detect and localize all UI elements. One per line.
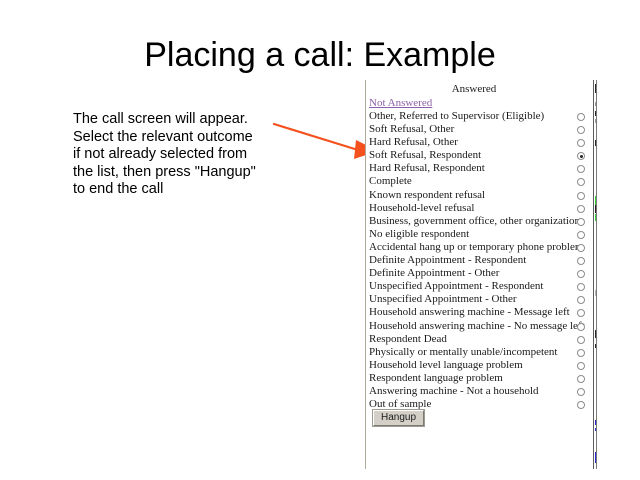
outcome-radio[interactable] xyxy=(577,349,585,357)
outcome-row[interactable]: Hard Refusal, Other xyxy=(366,136,596,149)
outcome-label: Other, Referred to Supervisor (Eligible) xyxy=(369,110,544,123)
instruction-line: The call screen will appear. xyxy=(73,111,288,129)
outcome-label: Definite Appointment - Respondent xyxy=(369,254,526,267)
outcome-radio[interactable] xyxy=(577,270,585,278)
outcome-radio[interactable] xyxy=(577,257,585,265)
outcome-radio[interactable] xyxy=(577,388,585,396)
outcome-label: Household answering machine - Message le… xyxy=(369,306,570,319)
outcome-row[interactable]: Household answering machine - Message le… xyxy=(366,306,596,319)
outcome-label: Unspecified Appointment - Other xyxy=(369,293,517,306)
outcome-label: Soft Refusal, Other xyxy=(369,123,454,136)
instruction-line: the list, then press "Hangup" xyxy=(73,164,288,182)
background-window-edge[interactable] xyxy=(593,80,597,469)
outcome-radio[interactable] xyxy=(577,309,585,317)
outcome-label: Complete xyxy=(369,175,412,188)
outcome-row[interactable]: Respondent Dead xyxy=(366,333,596,346)
outcome-row[interactable]: No eligible respondent xyxy=(366,228,596,241)
outcome-radio[interactable] xyxy=(577,152,585,160)
outcome-radio[interactable] xyxy=(577,113,585,121)
window-edge-mark xyxy=(595,344,597,348)
outcome-label: Household level language problem xyxy=(369,359,523,372)
outcome-label: Known respondent refusal xyxy=(369,189,485,202)
outcome-radio[interactable] xyxy=(577,178,585,186)
outcome-radio[interactable] xyxy=(577,375,585,383)
outcome-radio[interactable] xyxy=(577,323,585,331)
window-edge-mark xyxy=(595,111,597,116)
outcome-label: Accidental hang up or temporary phone pr… xyxy=(369,241,583,254)
outcome-row[interactable]: Hard Refusal, Respondent xyxy=(366,162,596,175)
outcome-radio[interactable] xyxy=(577,126,585,134)
outcome-label: Answering machine - Not a household xyxy=(369,385,539,398)
outcome-row[interactable]: Physically or mentally unable/incompeten… xyxy=(366,346,596,359)
outcome-radio[interactable] xyxy=(577,165,585,173)
hangup-button[interactable]: Hangup xyxy=(373,410,424,426)
outcome-label: Household answering machine - No message… xyxy=(369,320,585,333)
outcome-row[interactable]: Accidental hang up or temporary phone pr… xyxy=(366,241,596,254)
outcome-radio[interactable] xyxy=(577,205,585,213)
instruction-line: Select the relevant outcome xyxy=(73,129,288,147)
window-edge-mark xyxy=(595,196,597,205)
instruction-text: The call screen will appear. Select the … xyxy=(73,111,288,199)
outcome-row[interactable]: Other, Referred to Supervisor (Eligible) xyxy=(366,110,596,123)
outcome-row[interactable]: Definite Appointment - Respondent xyxy=(366,254,596,267)
window-edge-mark xyxy=(595,205,597,213)
outcome-row[interactable]: Definite Appointment - Other xyxy=(366,267,596,280)
page-title: Placing a call: Example xyxy=(0,36,640,75)
outcome-label: Business, government office, other organ… xyxy=(369,215,580,228)
window-edge-mark xyxy=(595,102,597,106)
window-edge-mark xyxy=(595,140,597,146)
window-edge-mark xyxy=(595,119,597,123)
outcome-radio[interactable] xyxy=(577,362,585,370)
window-edge-mark xyxy=(595,452,597,463)
outcome-label: Respondent Dead xyxy=(369,333,447,346)
window-edge-mark xyxy=(595,420,597,425)
outcome-label: Definite Appointment - Other xyxy=(369,267,499,280)
outcome-list: Other, Referred to Supervisor (Eligible)… xyxy=(366,110,596,411)
outcome-radio[interactable] xyxy=(577,283,585,291)
outcome-radio[interactable] xyxy=(577,192,585,200)
outcome-row[interactable]: Household-level refusal xyxy=(366,202,596,215)
not-answered-link[interactable]: Not Answered xyxy=(369,97,432,109)
outcome-row[interactable]: Unspecified Appointment - Other xyxy=(366,293,596,306)
window-edge-mark xyxy=(595,428,597,431)
outcome-label: Unspecified Appointment - Respondent xyxy=(369,280,543,293)
outcome-row[interactable]: Household level language problem xyxy=(366,359,596,372)
outcome-row[interactable]: Household answering machine - No message… xyxy=(366,320,596,333)
outcome-label: Household-level refusal xyxy=(369,202,474,215)
outcome-row[interactable]: Answering machine - Not a household xyxy=(366,385,596,398)
arrow-icon xyxy=(272,118,380,170)
outcome-label: No eligible respondent xyxy=(369,228,469,241)
outcome-row[interactable]: Unspecified Appointment - Respondent xyxy=(366,280,596,293)
window-edge-mark xyxy=(595,84,597,93)
window-edge-mark xyxy=(595,214,597,221)
outcome-row[interactable]: Respondent language problem xyxy=(366,372,596,385)
outcome-label: Respondent language problem xyxy=(369,372,503,385)
outcome-radio[interactable] xyxy=(577,139,585,147)
outcome-row[interactable]: Known respondent refusal xyxy=(366,189,596,202)
outcome-radio[interactable] xyxy=(577,231,585,239)
outcome-row[interactable]: Business, government office, other organ… xyxy=(366,215,596,228)
outcome-label: Hard Refusal, Respondent xyxy=(369,162,485,175)
outcome-radio[interactable] xyxy=(577,336,585,344)
instruction-line: if not already selected from xyxy=(73,146,288,164)
outcome-radio[interactable] xyxy=(577,244,585,252)
window-edge-mark xyxy=(595,330,597,338)
outcome-radio[interactable] xyxy=(577,218,585,226)
outcome-label: Hard Refusal, Other xyxy=(369,136,458,149)
window-edge-mark xyxy=(595,290,597,296)
outcome-radio[interactable] xyxy=(577,296,585,304)
outcome-label: Soft Refusal, Respondent xyxy=(369,149,481,162)
answered-section-header: Answered xyxy=(366,83,582,95)
outcome-radio[interactable] xyxy=(577,401,585,409)
outcome-row[interactable]: Soft Refusal, Respondent xyxy=(366,149,596,162)
call-screen-panel: Answered Not Answered Other, Referred to… xyxy=(365,80,596,469)
outcome-row[interactable]: Complete xyxy=(366,175,596,188)
outcome-row[interactable]: Soft Refusal, Other xyxy=(366,123,596,136)
outcome-label: Physically or mentally unable/incompeten… xyxy=(369,346,557,359)
instruction-line: to end the call xyxy=(73,181,288,199)
